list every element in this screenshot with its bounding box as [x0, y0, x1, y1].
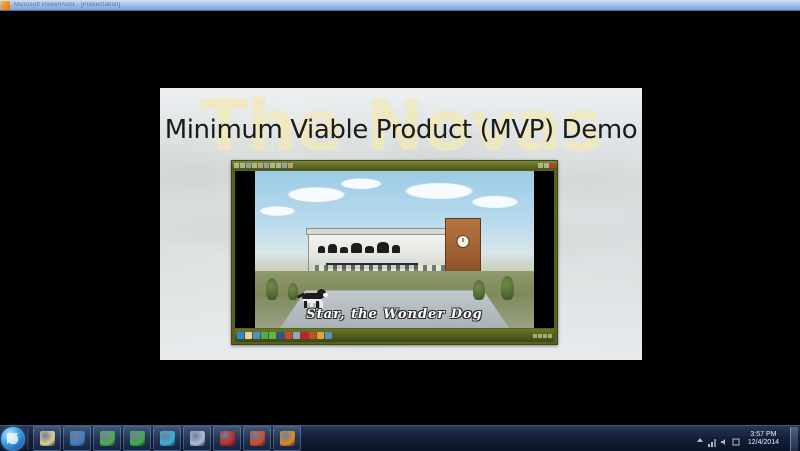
- player-window-buttons[interactable]: [538, 163, 555, 168]
- taskbar-item-explorer[interactable]: [33, 426, 61, 451]
- print-icon: [252, 163, 257, 168]
- player-toolbar-icons: [234, 163, 293, 168]
- zoom-icon: [288, 163, 293, 168]
- taskbar-item-acrobat[interactable]: [213, 426, 241, 451]
- tray-icon: [548, 334, 552, 338]
- powerpoint-icon: [250, 431, 265, 446]
- taskbar-buttons[interactable]: [32, 426, 302, 451]
- slide-title: Minimum Viable Product (MVP) Demo: [160, 115, 642, 145]
- chrome-icon: [100, 431, 115, 446]
- taskbar-clock[interactable]: 3:57 PM 12/4/2014: [744, 431, 783, 447]
- tree-icon: [501, 276, 514, 300]
- dog-illustration: [300, 286, 326, 308]
- embedded-video-player[interactable]: ANIMAL SHELTER: [231, 160, 558, 345]
- explorer-icon[interactable]: [245, 332, 252, 339]
- tray-icon: [543, 334, 547, 338]
- building-roof: [306, 228, 455, 235]
- folder2-icon[interactable]: [317, 332, 324, 339]
- taskbar-item-photos[interactable]: [183, 426, 211, 451]
- screen: Microsoft PowerPoint - [Presentation] Th…: [0, 0, 800, 451]
- save-icon: [246, 163, 251, 168]
- globe-icon: [160, 431, 175, 446]
- taskbar-item-powerpoint[interactable]: [243, 426, 271, 451]
- cartoon-illustration: ANIMAL SHELTER: [255, 171, 534, 328]
- app-icon[interactable]: [325, 332, 332, 339]
- player-video-area[interactable]: ANIMAL SHELTER: [235, 171, 554, 328]
- photo-icon[interactable]: [293, 332, 300, 339]
- nested-taskbar-icons[interactable]: [237, 332, 332, 339]
- taskbar-item-chrome[interactable]: [93, 426, 121, 451]
- taskbar-item-player[interactable]: [273, 426, 301, 451]
- picture-icon: [190, 431, 205, 446]
- presentation-stage: The Novas Minimum Viable Product (MVP) D…: [0, 11, 800, 425]
- menu-icon: [234, 163, 239, 168]
- media-icon[interactable]: [269, 332, 276, 339]
- powerpoint-icon[interactable]: [309, 332, 316, 339]
- maximize-button[interactable]: [544, 163, 549, 168]
- copy-icon: [264, 163, 269, 168]
- nested-taskbar-tray: [533, 334, 552, 338]
- taskbar-item-browser[interactable]: [153, 426, 181, 451]
- outlook-icon[interactable]: [285, 332, 292, 339]
- folder-icon: [40, 431, 55, 446]
- redo-icon: [282, 163, 287, 168]
- store-icon[interactable]: [253, 332, 260, 339]
- volume-icon[interactable]: [720, 434, 728, 444]
- tray-icon: [538, 334, 542, 338]
- video-caption: Star, the Wonder Dog: [255, 307, 534, 322]
- taskbar[interactable]: 3:57 PM 12/4/2014: [0, 425, 800, 451]
- taskbar-separator: [27, 428, 30, 450]
- system-tray[interactable]: 3:57 PM 12/4/2014: [696, 427, 800, 451]
- acrobat-icon: [220, 431, 235, 446]
- powerpoint-icon: [1, 1, 10, 10]
- store-icon: [70, 431, 85, 446]
- tree-icon: [266, 278, 278, 300]
- trees: [255, 246, 534, 299]
- show-desktop-button[interactable]: [790, 427, 798, 451]
- action-center-icon[interactable]: [732, 434, 740, 444]
- show-hidden-icon[interactable]: [696, 434, 704, 444]
- tree-icon: [473, 280, 485, 300]
- play-icon: [280, 431, 295, 446]
- taskbar-item-store[interactable]: [63, 426, 91, 451]
- minimize-button[interactable]: [538, 163, 543, 168]
- close-button[interactable]: [550, 163, 555, 168]
- folder-icon: [240, 163, 245, 168]
- taskbar-item-media[interactable]: [123, 426, 151, 451]
- player-titlebar[interactable]: [232, 161, 557, 170]
- window-title: Microsoft PowerPoint - [Presentation]: [14, 2, 120, 8]
- media-player-icon: [130, 431, 145, 446]
- clock-time: 3:57 PM: [748, 431, 779, 439]
- cut-icon: [258, 163, 263, 168]
- paste-icon: [270, 163, 275, 168]
- word-icon[interactable]: [277, 332, 284, 339]
- slide[interactable]: The Novas Minimum Viable Product (MVP) D…: [160, 88, 642, 360]
- start-button[interactable]: [1, 427, 25, 451]
- nested-taskbar[interactable]: [235, 329, 554, 342]
- acrobat-icon[interactable]: [301, 332, 308, 339]
- undo-icon: [276, 163, 281, 168]
- dog-snout: [323, 293, 328, 297]
- clock-date: 12/4/2014: [748, 439, 779, 447]
- chrome-icon[interactable]: [261, 332, 268, 339]
- start-orb-icon[interactable]: [237, 332, 244, 339]
- network-icon[interactable]: [708, 434, 716, 444]
- tray-icon: [533, 334, 537, 338]
- window-titlebar[interactable]: Microsoft PowerPoint - [Presentation]: [0, 0, 800, 11]
